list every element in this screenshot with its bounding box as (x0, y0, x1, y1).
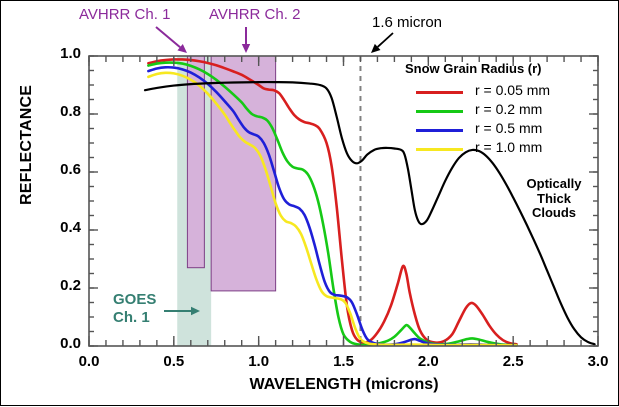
legend-swatch (416, 129, 463, 132)
y-tick-label: 0.0 (37, 336, 81, 353)
legend-swatch (416, 110, 463, 113)
legend-label: r = 0.05 mm (475, 83, 550, 99)
annotation-avhrr-ch2: AVHRR Ch. 2 (209, 7, 300, 24)
y-tick-label: 0.4 (37, 220, 81, 237)
y-tick-label: 0.2 (37, 278, 81, 295)
y-axis-label: REFLECTANCE (18, 55, 36, 235)
x-tick-label: 1.0 (232, 354, 286, 371)
annotation-goes-ch1-line1: GOES (113, 292, 156, 309)
x-tick-label: 3.0 (571, 354, 619, 371)
legend-swatch (416, 148, 463, 151)
x-axis-label: WAVELENGTH (microns) (89, 376, 599, 394)
legend-swatch (416, 91, 463, 94)
y-tick-label: 0.8 (37, 104, 81, 121)
annotation-avhrr-ch1: AVHRR Ch. 1 (79, 7, 170, 24)
x-tick-label: 0.0 (62, 354, 116, 371)
y-tick-label: 1.0 (37, 46, 81, 63)
legend-label: r = 0.5 mm (475, 121, 542, 137)
arrow-avhrr-ch2-head (242, 44, 250, 53)
x-tick-label: 2.5 (486, 354, 540, 371)
legend-label: r = 1.0 mm (475, 140, 542, 156)
annotation-1p6-micron: 1.6 micron (372, 15, 442, 32)
reflectance-chart-figure: REFLECTANCE WAVELENGTH (microns) AVHRR C… (0, 0, 619, 406)
arrow-1p6-micron (378, 33, 393, 47)
y-tick-label: 0.6 (37, 162, 81, 179)
annotation-goes-ch1-line2: Ch. 1 (113, 310, 150, 327)
x-tick-label: 0.5 (147, 354, 201, 371)
legend-title: Snow Grain Radius (r) (405, 62, 542, 77)
x-tick-label: 1.5 (317, 354, 371, 371)
annotation-optically-thick-clouds: Optically Thick Clouds (506, 177, 602, 221)
legend-label: r = 0.2 mm (475, 102, 542, 118)
x-tick-label: 2.0 (401, 354, 455, 371)
arrow-avhrr-ch1 (156, 27, 180, 47)
